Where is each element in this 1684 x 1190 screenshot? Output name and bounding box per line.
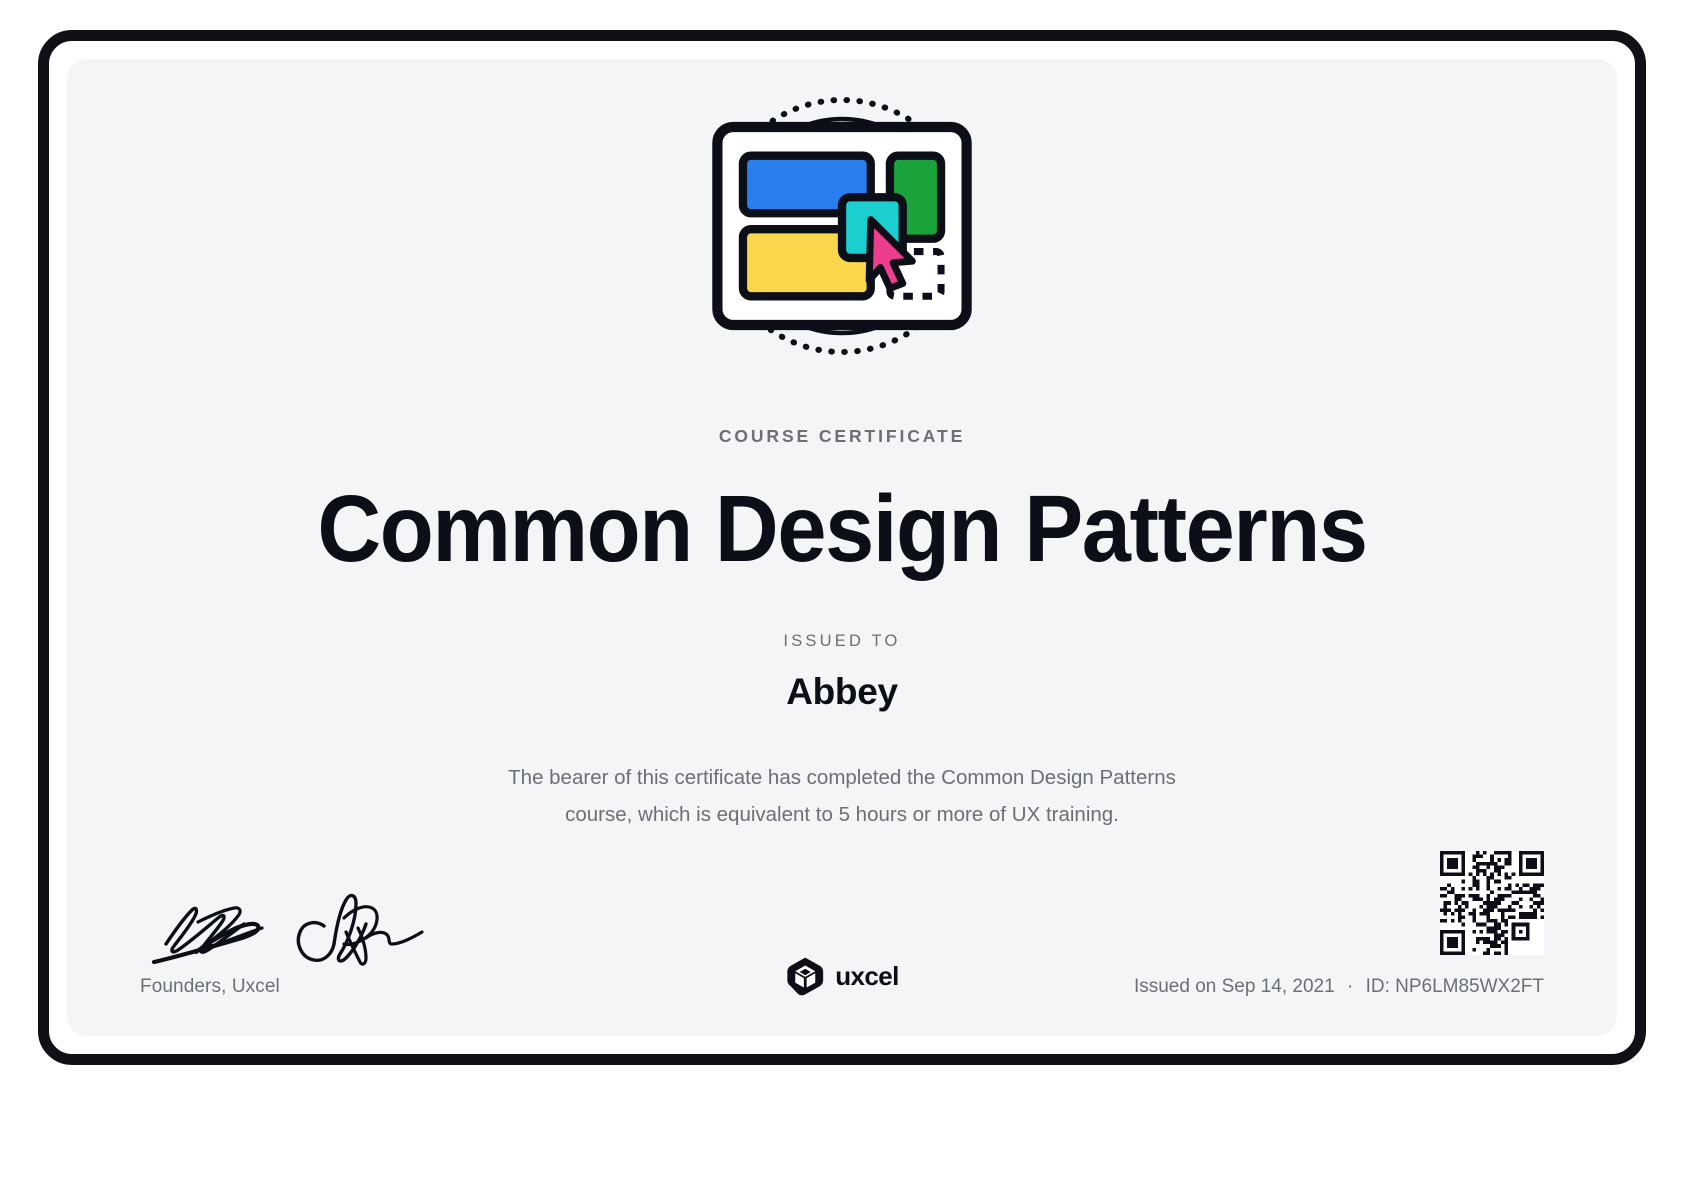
uxcel-cube-hexagon-logo — [785, 956, 825, 996]
brand-wordmark: uxcel — [835, 961, 899, 992]
issue-metadata: Issued on Sep 14, 2021 · ID: NP6LM85WX2F… — [1134, 976, 1544, 998]
meta-separator: · — [1340, 976, 1360, 997]
brand-logo: uxcel — [785, 956, 899, 996]
certificate-frame: U X C E L C E R T I F I E D U X C E L C … — [38, 30, 1646, 1065]
founders-label: Founders, Uxcel — [140, 976, 520, 998]
page-title: Common Design Patterns — [121, 474, 1563, 584]
issued-on-date: Issued on Sep 14, 2021 — [1134, 976, 1335, 997]
certificate-panel: U X C E L C E R T I F I E D U X C E L C … — [67, 59, 1617, 1036]
design-patterns-layout-icon — [711, 95, 973, 357]
certificate-id: ID: NP6LM85WX2FT — [1366, 976, 1544, 997]
founder-signature-two — [288, 888, 588, 974]
issued-to-label: ISSUED TO — [67, 632, 1617, 651]
recipient-name: Abbey — [67, 671, 1617, 713]
verification-qr-code[interactable] — [1440, 851, 1544, 955]
description-line-2: course, which is equivalent to 5 hours o… — [565, 803, 1119, 826]
footer-right: Issued on Sep 14, 2021 · ID: NP6LM85WX2F… — [1134, 851, 1544, 998]
description-line-1: The bearer of this certificate has compl… — [508, 766, 1176, 789]
certificate-description: The bearer of this certificate has compl… — [462, 759, 1222, 833]
signature-group — [140, 888, 440, 974]
certificate-kicker: COURSE CERTIFICATE — [67, 426, 1617, 447]
footer-left: Founders, Uxcel — [140, 888, 520, 998]
uxcel-certified-seal: U X C E L C E R T I F I E D U X C E L C … — [711, 95, 973, 357]
